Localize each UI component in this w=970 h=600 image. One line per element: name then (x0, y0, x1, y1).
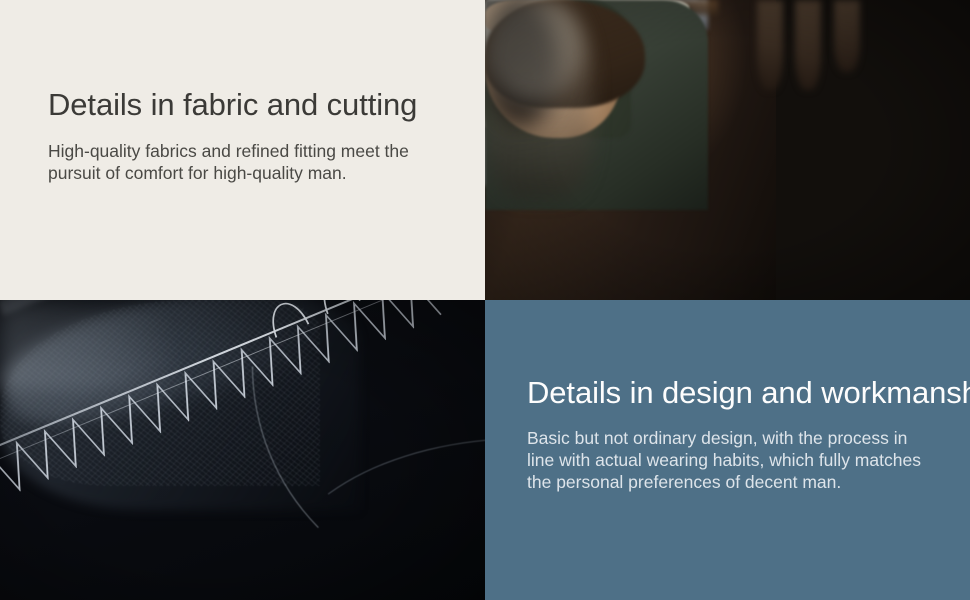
promo-feature-grid: Details in fabric and cutting High-quali… (0, 0, 970, 600)
photo-seamstress (485, 0, 970, 300)
photo-vignette (485, 0, 970, 300)
photo-vignette (0, 300, 485, 600)
panel-fabric-heading: Details in fabric and cutting (48, 88, 437, 123)
panel-design: Details in design and workmanship Basic … (485, 300, 970, 600)
panel-design-body: Basic but not ordinary design, with the … (527, 427, 922, 493)
panel-design-heading: Details in design and workmanship (527, 376, 922, 411)
panel-fabric-body: High-quality fabrics and refined fitting… (48, 140, 437, 184)
photo-stitch (0, 300, 485, 600)
panel-fabric: Details in fabric and cutting High-quali… (0, 0, 485, 300)
